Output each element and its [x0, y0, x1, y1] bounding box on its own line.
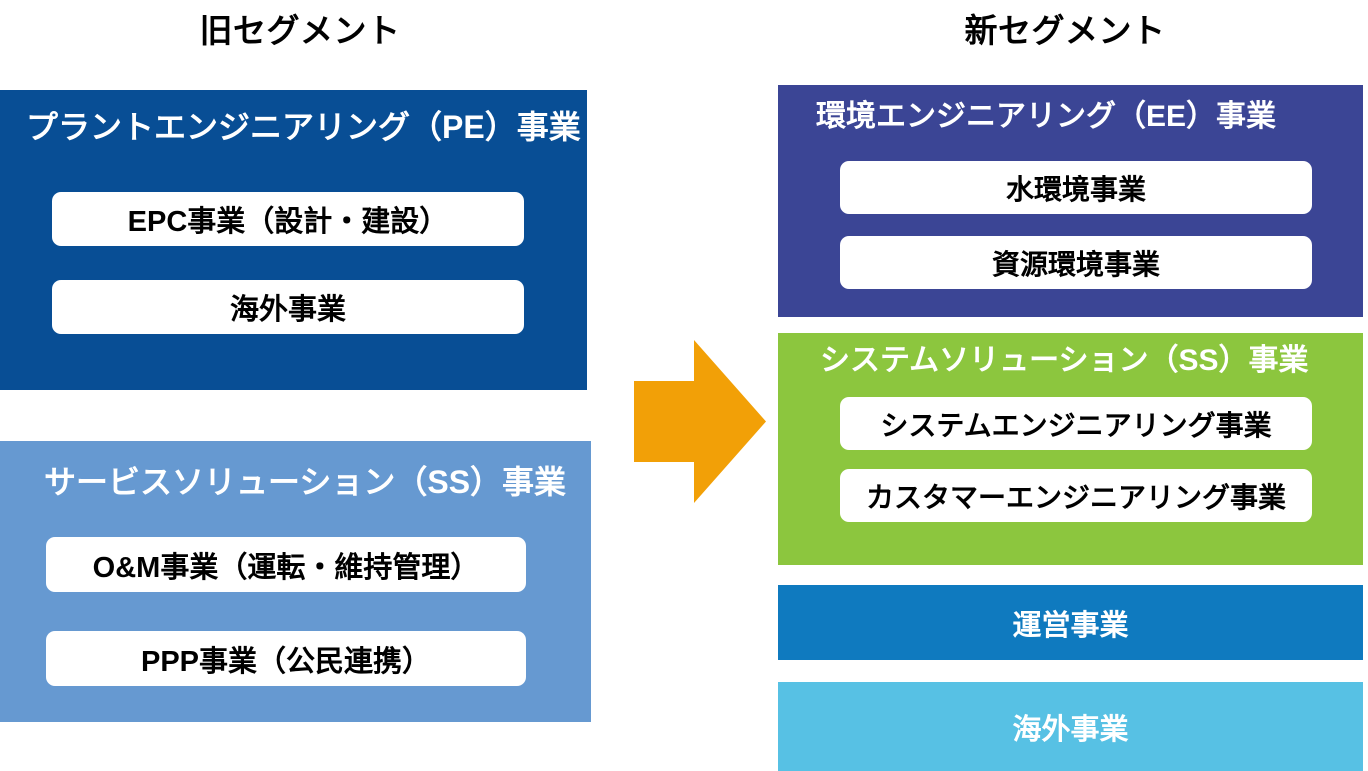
segment-block-service-solution: サービスソリューション（SS）事業 O&M事業（運転・維持管理） PPP事業（公…: [0, 441, 591, 722]
segment-item-system-engineering: システムエンジニアリング事業: [840, 397, 1312, 450]
segment-block-system-solution: システムソリューション（SS）事業 システムエンジニアリング事業 カスタマーエン…: [778, 333, 1363, 565]
segment-item-om: O&M事業（運転・維持管理）: [46, 537, 526, 592]
segment-block-operation: 運営事業: [778, 585, 1363, 660]
segment-item-epc: EPC事業（設計・建設）: [52, 192, 524, 246]
segment-item-ppp: PPP事業（公民連携）: [46, 631, 526, 686]
segment-block-plant-engineering: プラントエンジニアリング（PE）事業 EPC事業（設計・建設） 海外事業: [0, 90, 587, 390]
segment-item-water-environment: 水環境事業: [840, 161, 1312, 214]
new-segment-heading: 新セグメント: [770, 13, 1360, 49]
segment-item-resource-environment: 資源環境事業: [840, 236, 1312, 289]
segment-item-overseas-old: 海外事業: [52, 280, 524, 334]
segment-title-plant-engineering: プラントエンジニアリング（PE）事業: [26, 111, 581, 143]
segment-block-environment-engineering: 環境エンジニアリング（EE）事業 水環境事業 資源環境事業: [778, 85, 1363, 317]
segment-title-service-solution: サービスソリューション（SS）事業: [44, 466, 566, 498]
right-arrow-icon: [634, 340, 766, 503]
segment-title-system-solution: システムソリューション（SS）事業: [820, 346, 1309, 376]
segment-block-overseas-new: 海外事業: [778, 682, 1363, 771]
old-segment-heading: 旧セグメント: [0, 13, 600, 49]
segment-title-environment-engineering: 環境エンジニアリング（EE）事業: [816, 102, 1276, 132]
segment-item-customer-engineering: カスタマーエンジニアリング事業: [840, 469, 1312, 522]
